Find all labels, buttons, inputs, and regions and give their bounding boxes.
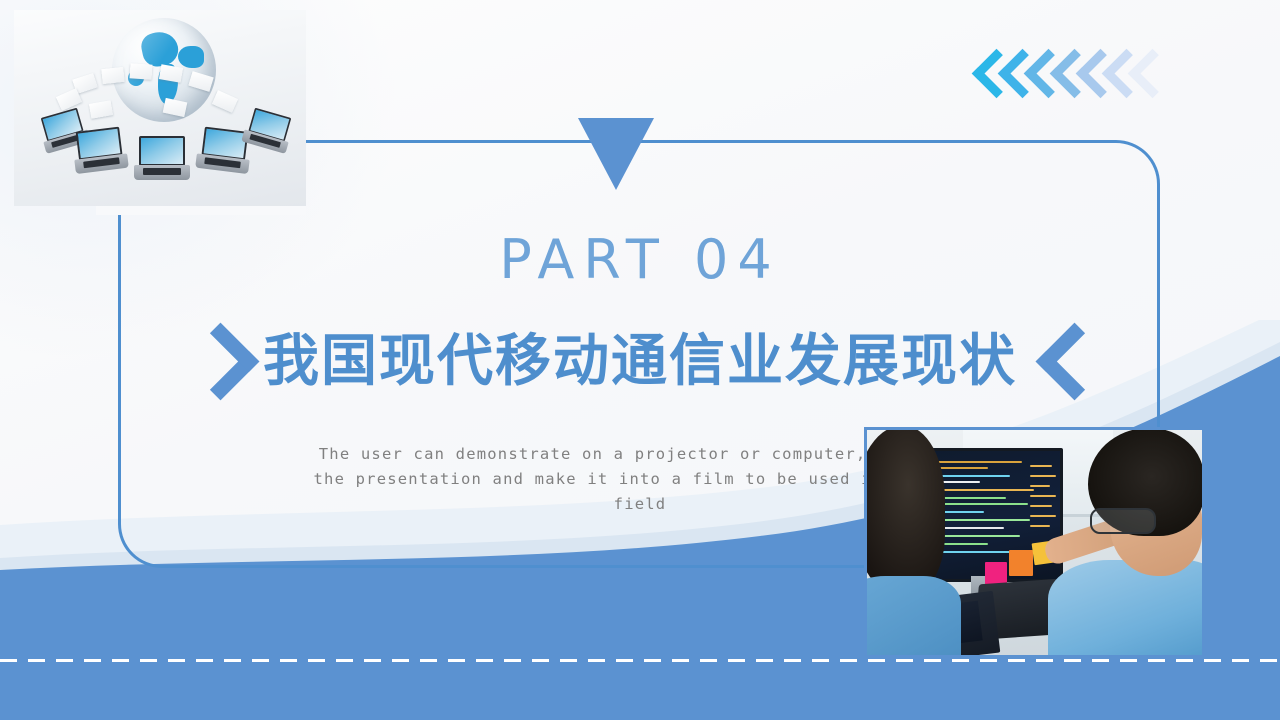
network-globe-image: [14, 10, 306, 206]
laptop-icon: [71, 126, 129, 176]
title-row: 我国现代移动通信业发展现状: [0, 316, 1280, 397]
page-title: 我国现代移动通信业发展现状: [263, 316, 1017, 397]
glasses-icon: [1090, 508, 1156, 534]
sticky-note: [1009, 550, 1033, 576]
triangle-down-icon: [578, 118, 654, 190]
dashed-divider: [0, 659, 1280, 662]
person-right: [1058, 432, 1205, 658]
laptop-icon: [134, 136, 190, 182]
section-number-label: PART 04: [0, 228, 1280, 291]
chevron-left-icon: [1132, 48, 1162, 110]
chevron-group-decoration: [976, 48, 1166, 110]
chevron-right-icon: [193, 320, 237, 394]
chevron-left-icon: [1043, 320, 1087, 394]
person-left: [864, 427, 957, 658]
people-at-computer-image: [864, 427, 1205, 658]
presentation-slide: PART 04 我国现代移动通信业发展现状 The user can demon…: [0, 0, 1280, 720]
